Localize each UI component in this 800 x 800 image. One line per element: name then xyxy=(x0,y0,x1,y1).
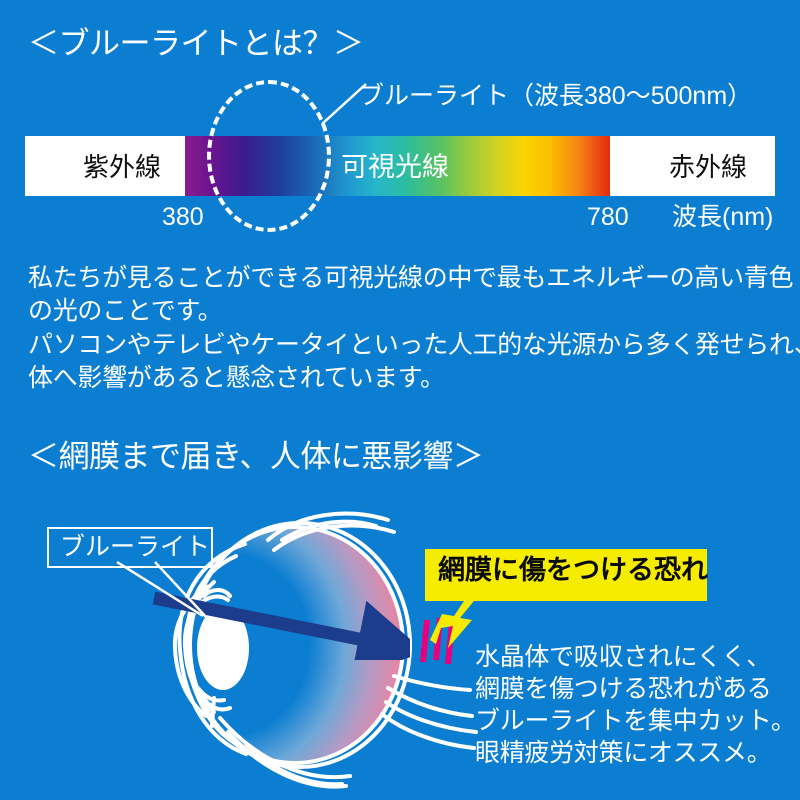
blue-light-range-caption: ブルーライト（波長380〜500nm） xyxy=(359,84,752,109)
blue-light-description-line-3: パソコンやテレビやケータイといった人工的な光源から多く発せられ、人 xyxy=(28,329,788,362)
spectrum-label-ultraviolet: 紫外線 xyxy=(83,154,161,180)
blue-light-ray-leader-lines xyxy=(95,560,235,630)
spectrum-label-infrared: 赤外線 xyxy=(669,154,747,180)
blue-light-ray-label-text: ブルーライト xyxy=(60,535,210,560)
spectrum-tick-780: 780 xyxy=(587,205,629,230)
spectrum-axis-unit-label: 波長(nm) xyxy=(672,205,773,230)
blue-light-description: 私たちが見ることができる可視光線の中で最もエネルギーの高い青色 の光のことです。… xyxy=(28,262,788,395)
blue-light-description-line-1: 私たちが見ることができる可視光線の中で最もエネルギーの高い青色 xyxy=(28,262,788,295)
spectrum-tick-380: 380 xyxy=(162,205,204,230)
retina-damage-warning-badge: 網膜に傷をつける恐れ xyxy=(425,549,707,601)
retina-damage-warning-text: 網膜に傷をつける恐れ xyxy=(438,557,708,584)
product-benefit-line-4: 眼精疲労対策にオススメ。 xyxy=(475,737,796,769)
poster-root: ＜ブルーライトとは？＞ 紫外線 赤外線 可視光線 ブルーライト（波長380〜50… xyxy=(0,0,800,800)
product-benefit-line-2: 網膜を傷つける恐れがある xyxy=(475,673,796,705)
spectrum-label-visible-light: 可視光線 xyxy=(341,154,449,181)
page-title-blue-light: ＜ブルーライトとは？＞ xyxy=(28,28,364,59)
product-benefit-line-3: ブルーライトを集中カット。 xyxy=(475,705,796,737)
blue-light-description-line-2: の光のことです。 xyxy=(28,295,788,328)
blue-light-description-line-4: 体へ影響があると懸念されています。 xyxy=(28,362,788,395)
product-benefit-description: 水晶体で吸収されにくく、 網膜を傷つける恐れがある ブルーライトを集中カット。 … xyxy=(475,641,796,769)
page-title-retina-damage: ＜網膜まで届き、人体に悪影響＞ xyxy=(28,441,483,472)
product-benefit-line-1: 水晶体で吸収されにくく、 xyxy=(475,641,796,673)
blue-light-highlight-ellipse xyxy=(207,80,331,232)
